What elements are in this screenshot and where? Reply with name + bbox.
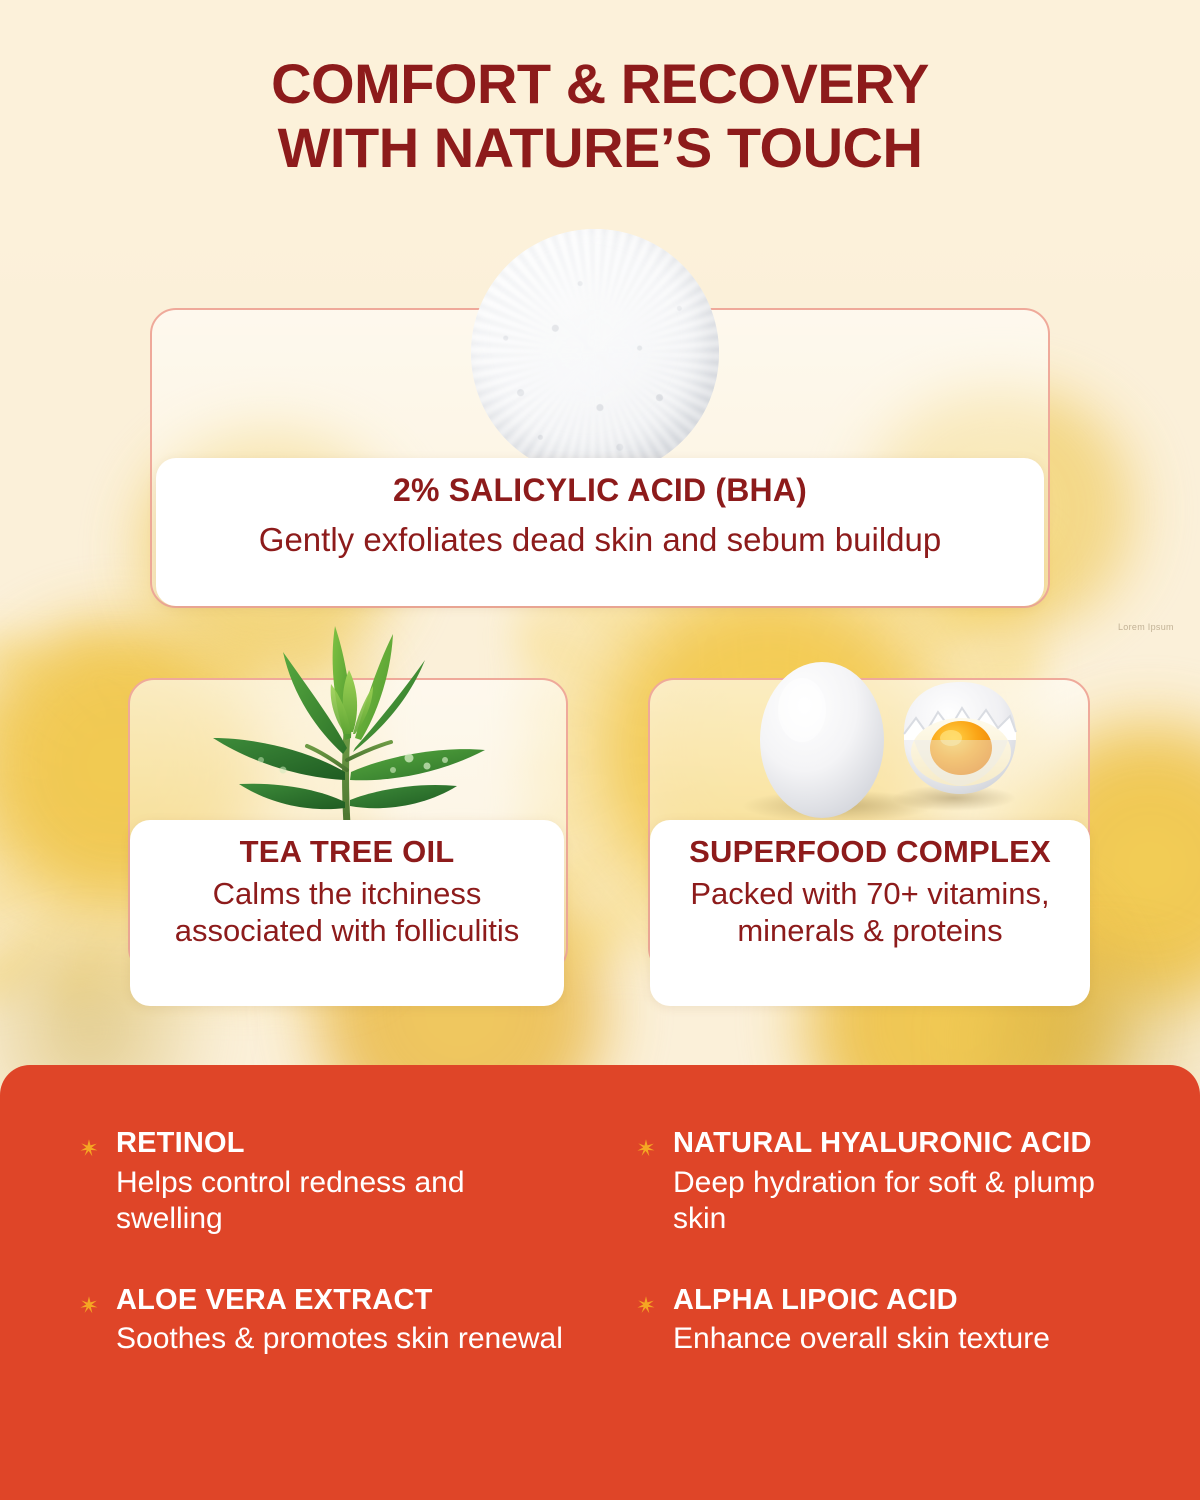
benefits-grid: RETINOL Helps control redness and swelli… bbox=[78, 1127, 1130, 1358]
white-powder-mound-image bbox=[471, 229, 719, 477]
benefit-item-aloe-vera-extract: ALOE VERA EXTRACT Soothes & promotes ski… bbox=[78, 1284, 573, 1358]
feature-description: Calms the itchiness associated with foll… bbox=[148, 875, 546, 949]
feature-title: TEA TREE OIL bbox=[148, 834, 546, 871]
page-title-line-1: COMFORT & RECOVERY bbox=[0, 52, 1200, 116]
benefit-item-retinol: RETINOL Helps control redness and swelli… bbox=[78, 1127, 573, 1238]
starburst-icon bbox=[635, 1294, 657, 1316]
benefit-text: NATURAL HYALURONIC ACID Deep hydration f… bbox=[673, 1127, 1130, 1238]
starburst-icon bbox=[78, 1137, 100, 1159]
cracked-egg-yolk-image bbox=[718, 648, 1018, 828]
benefit-description: Helps control redness and swelling bbox=[116, 1165, 573, 1238]
feature-title: SUPERFOOD COMPLEX bbox=[668, 834, 1072, 871]
feature-description: Gently exfoliates dead skin and sebum bu… bbox=[174, 520, 1026, 560]
starburst-icon bbox=[78, 1294, 100, 1316]
tea-tree-sprig-image bbox=[195, 620, 505, 845]
benefit-description: Soothes & promotes skin renewal bbox=[116, 1321, 563, 1358]
benefit-description: Enhance overall skin texture bbox=[673, 1321, 1050, 1358]
benefit-title: ALPHA LIPOIC ACID bbox=[673, 1284, 958, 1316]
benefit-item-natural-hyaluronic-acid: NATURAL HYALURONIC ACID Deep hydration f… bbox=[635, 1127, 1130, 1238]
benefit-text: ALOE VERA EXTRACT Soothes & promotes ski… bbox=[116, 1284, 563, 1358]
benefits-panel: RETINOL Helps control redness and swelli… bbox=[0, 1065, 1200, 1500]
feature-title: 2% SALICYLIC ACID (BHA) bbox=[174, 472, 1026, 510]
page-title-line-2: WITH NATURE’S TOUCH bbox=[0, 116, 1200, 180]
benefit-title: NATURAL HYALURONIC ACID bbox=[673, 1127, 1092, 1159]
page-title: COMFORT & RECOVERY WITH NATURE’S TOUCH bbox=[0, 52, 1200, 180]
benefit-title: ALOE VERA EXTRACT bbox=[116, 1284, 433, 1316]
benefit-text: RETINOL Helps control redness and swelli… bbox=[116, 1127, 573, 1238]
starburst-icon bbox=[635, 1137, 657, 1159]
benefit-description: Deep hydration for soft & plump skin bbox=[673, 1165, 1130, 1238]
watermark-text: Lorem Ipsum bbox=[1118, 622, 1174, 632]
benefit-title: RETINOL bbox=[116, 1127, 245, 1159]
feature-label-superfood-complex: SUPERFOOD COMPLEX Packed with 70+ vitami… bbox=[650, 820, 1090, 1006]
feature-label-salicylic-acid: 2% SALICYLIC ACID (BHA) Gently exfoliate… bbox=[156, 458, 1044, 606]
benefit-item-alpha-lipoic-acid: ALPHA LIPOIC ACID Enhance overall skin t… bbox=[635, 1284, 1130, 1358]
feature-label-tea-tree-oil: TEA TREE OIL Calms the itchiness associa… bbox=[130, 820, 564, 1006]
benefit-text: ALPHA LIPOIC ACID Enhance overall skin t… bbox=[673, 1284, 1050, 1358]
feature-description: Packed with 70+ vitamins, minerals & pro… bbox=[668, 875, 1072, 949]
